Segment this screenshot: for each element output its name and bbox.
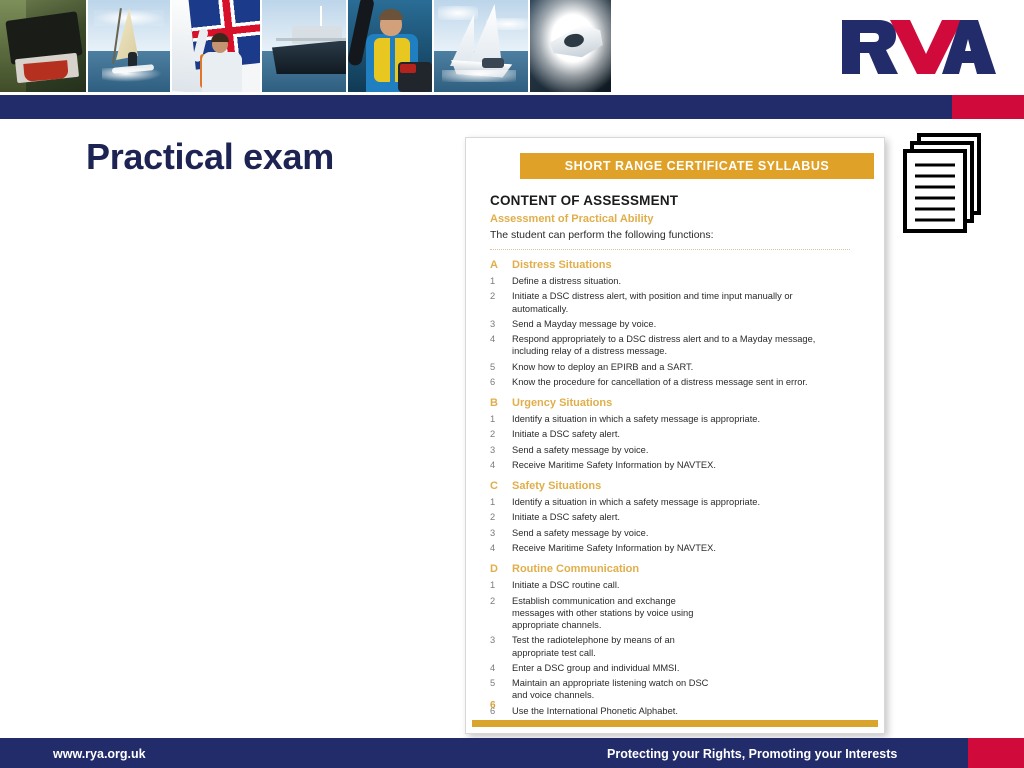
section-letter: C [490, 480, 512, 492]
item-text: Receive Maritime Safety Information by N… [512, 459, 842, 471]
item-number: 2 [490, 428, 512, 440]
section-heading: CSafety Situations [490, 480, 864, 492]
item-text: Respond appropriately to a DSC distress … [512, 333, 842, 358]
item-number: 1 [490, 413, 512, 425]
assessment-lead-text: The student can perform the following fu… [490, 229, 864, 241]
photo-powerboat-aerial [530, 0, 611, 92]
syllabus-item: 3Send a safety message by voice. [490, 527, 864, 539]
header-navy-bar [0, 95, 952, 119]
syllabus-sections: ADistress Situations1Define a distress s… [490, 259, 864, 717]
syllabus-item: 3Send a Mayday message by voice. [490, 318, 864, 330]
section-heading: ADistress Situations [490, 259, 864, 271]
section-letter: A [490, 259, 512, 271]
content-of-assessment-heading: CONTENT OF ASSESSMENT [490, 193, 864, 208]
footer-red-accent-bar [968, 738, 1024, 768]
item-text: Enter a DSC group and individual MMSI. [512, 662, 712, 674]
syllabus-item: 4Receive Maritime Safety Information by … [490, 459, 864, 471]
item-number: 2 [490, 511, 512, 523]
syllabus-item: 6Use the International Phonetic Alphabet… [490, 705, 864, 717]
syllabus-section-d: DRoutine Communication1Initiate a DSC ro… [490, 563, 864, 717]
syllabus-item: 1Initiate a DSC routine call. [490, 579, 864, 591]
item-number: 3 [490, 318, 512, 330]
item-text: Receive Maritime Safety Information by N… [512, 542, 842, 554]
stacked-documents-icon [903, 133, 983, 239]
item-number: 4 [490, 542, 512, 554]
syllabus-item: 1Identify a situation in which a safety … [490, 413, 864, 425]
photo-man-in-buoyancy-aid [348, 0, 434, 92]
syllabus-item: 2Initiate a DSC safety alert. [490, 428, 864, 440]
item-number: 1 [490, 579, 512, 591]
rya-logo [838, 12, 998, 82]
section-heading: DRoutine Communication [490, 563, 864, 575]
syllabus-item: 5Maintain an appropriate listening watch… [490, 677, 864, 702]
item-number: 2 [490, 595, 512, 632]
item-text: Send a safety message by voice. [512, 444, 842, 456]
item-text: Initiate a DSC routine call. [512, 579, 712, 591]
item-text: Initiate a DSC safety alert. [512, 428, 842, 440]
section-title: Distress Situations [512, 259, 612, 271]
item-text: Use the International Phonetic Alphabet. [512, 705, 712, 717]
syllabus-section-c: CSafety Situations1Identify a situation … [490, 480, 864, 554]
section-letter: D [490, 563, 512, 575]
syllabus-item: 1Identify a situation in which a safety … [490, 496, 864, 508]
syllabus-banner: SHORT RANGE CERTIFICATE SYLLABUS [520, 153, 874, 179]
syllabus-item: 2Establish communication and exchange me… [490, 595, 864, 632]
photo-sailor-with-union-jack [172, 0, 262, 92]
footer-tagline: Protecting your Rights, Promoting your I… [607, 747, 897, 761]
item-number: 1 [490, 275, 512, 287]
item-text: Define a distress situation. [512, 275, 842, 287]
photo-boat-launch-slipway [0, 0, 88, 92]
item-number: 4 [490, 333, 512, 358]
item-number: 5 [490, 361, 512, 373]
syllabus-item: 4Enter a DSC group and individual MMSI. [490, 662, 864, 674]
item-text: Know how to deploy an EPIRB and a SART. [512, 361, 842, 373]
footer-website-url[interactable]: www.rya.org.uk [53, 747, 146, 761]
item-number: 2 [490, 290, 512, 315]
page-title: Practical exam [86, 136, 334, 178]
assessment-subtitle: Assessment of Practical Ability [490, 213, 864, 225]
item-number: 3 [490, 444, 512, 456]
syllabus-page: SHORT RANGE CERTIFICATE SYLLABUS CONTENT… [465, 137, 885, 734]
divider [490, 249, 850, 250]
photo-motor-yacht [262, 0, 348, 92]
syllabus-item: 5Know how to deploy an EPIRB and a SART. [490, 361, 864, 373]
item-text: Identify a situation in which a safety m… [512, 496, 842, 508]
section-title: Routine Communication [512, 563, 639, 575]
item-number: 6 [490, 376, 512, 388]
item-number: 3 [490, 634, 512, 659]
section-letter: B [490, 397, 512, 409]
item-number: 4 [490, 662, 512, 674]
syllabus-item: 3Test the radiotelephone by means of an … [490, 634, 864, 659]
item-text: Send a safety message by voice. [512, 527, 842, 539]
syllabus-section-b: BUrgency Situations1Identify a situation… [490, 397, 864, 471]
item-text: Know the procedure for cancellation of a… [512, 376, 842, 388]
item-number: 1 [490, 496, 512, 508]
syllabus-item: 4Respond appropriately to a DSC distress… [490, 333, 864, 358]
syllabus-footer-bar [472, 720, 878, 727]
item-text: Send a Mayday message by voice. [512, 318, 842, 330]
syllabus-item: 2Initiate a DSC distress alert, with pos… [490, 290, 864, 315]
syllabus-item: 6Know the procedure for cancellation of … [490, 376, 864, 388]
section-title: Safety Situations [512, 480, 601, 492]
syllabus-item: 3Send a safety message by voice. [490, 444, 864, 456]
item-text: Maintain an appropriate listening watch … [512, 677, 712, 702]
photo-sailing-yacht [434, 0, 530, 92]
syllabus-page-number: 6 [490, 700, 496, 711]
section-heading: BUrgency Situations [490, 397, 864, 409]
syllabus-item: 1Define a distress situation. [490, 275, 864, 287]
header-red-accent-bar [952, 95, 1024, 119]
item-number: 3 [490, 527, 512, 539]
syllabus-section-a: ADistress Situations1Define a distress s… [490, 259, 864, 388]
item-text: Establish communication and exchange mes… [512, 595, 712, 632]
item-text: Initiate a DSC distress alert, with posi… [512, 290, 842, 315]
section-title: Urgency Situations [512, 397, 612, 409]
item-number: 4 [490, 459, 512, 471]
photo-windsurfer [88, 0, 172, 92]
item-text: Initiate a DSC safety alert. [512, 511, 842, 523]
slide-root: Practical exam SHORT RANGE CERTIFICATE S… [0, 0, 1024, 768]
syllabus-item: 2Initiate a DSC safety alert. [490, 511, 864, 523]
item-number: 5 [490, 677, 512, 702]
header-photo-strip [0, 0, 611, 92]
item-text: Identify a situation in which a safety m… [512, 413, 842, 425]
item-text: Test the radiotelephone by means of an a… [512, 634, 712, 659]
syllabus-item: 4Receive Maritime Safety Information by … [490, 542, 864, 554]
